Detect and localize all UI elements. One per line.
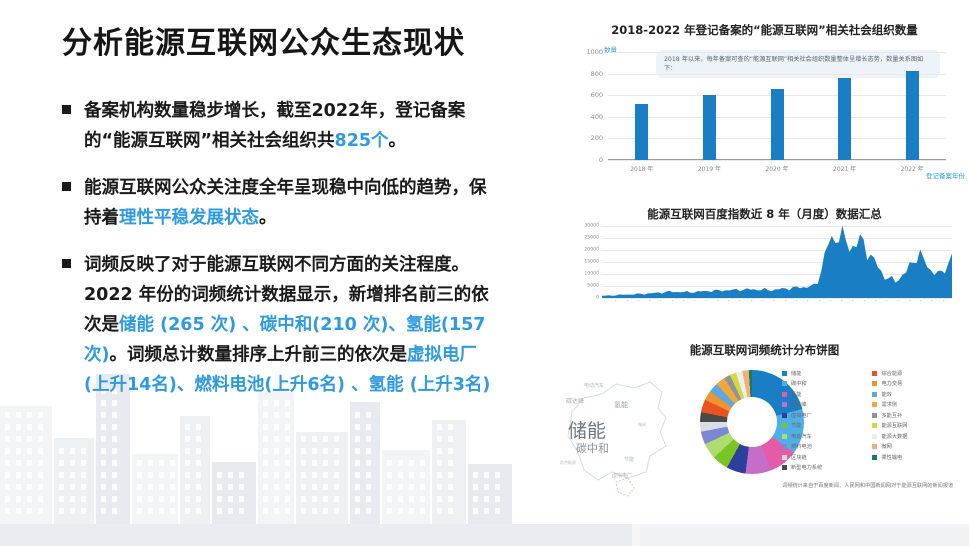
window-dot xyxy=(16,448,21,454)
window-dot xyxy=(285,448,290,454)
window-dot xyxy=(366,448,371,454)
window-dot xyxy=(148,508,153,514)
window-dot xyxy=(70,460,75,466)
window-dot xyxy=(285,484,290,490)
x-axis-tick: 2019-04 xyxy=(794,300,804,302)
window-dot xyxy=(185,460,190,466)
window-dot xyxy=(5,484,10,490)
area-chart-xticks: 2015-012015-042015-072015-102016-012016-… xyxy=(602,300,952,328)
y-axis-tick: 20000 xyxy=(584,248,599,253)
gridline xyxy=(608,160,946,161)
list-item: 能源互联网公众关注度全年呈现稳中向低的趋势，保持着理性平稳发展状态。 xyxy=(62,173,492,233)
legend-swatch xyxy=(782,455,787,460)
window-dot xyxy=(228,508,233,514)
window-dot xyxy=(59,508,64,514)
window-dot xyxy=(101,496,106,502)
window-dot xyxy=(70,496,75,502)
window-dot xyxy=(285,424,290,430)
window-dot xyxy=(437,448,442,454)
legend-item[interactable]: 需求侧 xyxy=(872,400,958,411)
legend-item[interactable]: 能效 xyxy=(872,389,958,400)
legend-swatch xyxy=(782,434,787,439)
gridline xyxy=(608,74,946,75)
window-dot xyxy=(301,508,306,514)
window-dot xyxy=(409,472,414,478)
window-dot xyxy=(196,508,201,514)
window-dot xyxy=(263,472,268,478)
window-dot xyxy=(148,484,153,490)
window-dot xyxy=(420,460,425,466)
window-dot xyxy=(409,460,414,466)
x-axis-tick: 2018-10 xyxy=(771,300,781,302)
y-axis-tick: 5000 xyxy=(587,284,599,289)
window-dot xyxy=(301,448,306,454)
bar xyxy=(771,89,784,160)
window-dot xyxy=(323,472,328,478)
window-dot xyxy=(27,448,32,454)
x-axis-tick: 2016-07 xyxy=(670,300,680,302)
x-axis-tick: 2020-07 xyxy=(850,300,860,302)
window-dot xyxy=(312,472,317,478)
wordcloud-word: 综合能源 xyxy=(560,460,576,466)
window-dot xyxy=(366,460,371,466)
x-axis-tick: 2018-04 xyxy=(749,300,759,302)
x-axis-tick: 2017-04 xyxy=(704,300,714,302)
window-dot xyxy=(448,496,453,502)
window-dot xyxy=(409,508,414,514)
window-dot xyxy=(285,496,290,502)
legend-swatch xyxy=(782,444,787,449)
window-dot xyxy=(81,484,86,490)
legend-item[interactable]: 虚拟电厂 xyxy=(782,410,868,421)
bar-chart-xlabel: 登记备案年份 xyxy=(926,170,965,180)
bar xyxy=(838,78,851,160)
window-dot xyxy=(81,472,86,478)
window-dot xyxy=(495,508,500,514)
window-dot xyxy=(448,508,453,514)
legend-label: 微网 xyxy=(881,443,891,450)
window-dot xyxy=(239,472,244,478)
legend-swatch xyxy=(782,423,787,428)
x-axis-tick: 2015-10 xyxy=(636,300,646,302)
window-dot xyxy=(323,484,328,490)
window-dot xyxy=(38,412,43,418)
window-dot xyxy=(448,448,453,454)
window-dot xyxy=(217,508,222,514)
legend-label: 碳达峰 xyxy=(791,401,807,408)
legend-swatch xyxy=(782,402,787,407)
legend-label: 电力交易 xyxy=(881,380,902,387)
y-axis-tick: 25000 xyxy=(584,236,599,241)
x-axis-tick: 2017-01 xyxy=(692,300,702,302)
legend-item[interactable]: 氢能 xyxy=(782,389,868,400)
window-dot xyxy=(59,448,64,454)
area-chart-title: 能源互联网百度指数近 8 年（月度）数据汇总 xyxy=(560,206,969,222)
window-dot xyxy=(112,460,117,466)
legend-item[interactable]: 电力交易 xyxy=(872,379,958,390)
window-dot xyxy=(112,472,117,478)
legend-item[interactable]: 多能互补 xyxy=(872,410,958,421)
window-dot xyxy=(16,412,21,418)
legend-label: 新型电力系统 xyxy=(791,464,822,471)
pie-chart: 能源互联网词频统计分布饼图 储能碳中和氢能碳达峰节能电动汽车虚拟电厂综合能源微网… xyxy=(560,342,969,522)
window-dot xyxy=(16,460,21,466)
window-dot xyxy=(366,508,371,514)
window-dot xyxy=(366,484,371,490)
x-axis-tick: 2019-10 xyxy=(817,300,827,302)
window-dot xyxy=(387,496,392,502)
window-dot xyxy=(101,472,106,478)
x-axis-tick: 2020-04 xyxy=(839,300,849,302)
window-dot xyxy=(398,496,403,502)
window-dot xyxy=(484,508,489,514)
window-dot xyxy=(437,472,442,478)
window-dot xyxy=(334,508,339,514)
x-axis-tick: 2022-07 xyxy=(941,300,951,302)
window-dot xyxy=(170,508,175,514)
legend-item[interactable]: 节能 xyxy=(782,421,868,432)
window-dot xyxy=(27,436,32,442)
window-dot xyxy=(484,496,489,502)
window-dot xyxy=(5,448,10,454)
window-dot xyxy=(312,484,317,490)
legend-swatch xyxy=(872,381,877,386)
y-axis-tick: 200 xyxy=(591,134,603,142)
window-dot xyxy=(448,436,453,442)
window-dot xyxy=(148,496,153,502)
window-dot xyxy=(196,436,201,442)
legend-item[interactable]: 柔性输电 xyxy=(872,452,958,463)
window-dot xyxy=(59,472,64,478)
window-dot xyxy=(437,460,442,466)
window-dot xyxy=(473,472,478,478)
legend-item[interactable]: 碳中和 xyxy=(782,379,868,390)
window-dot xyxy=(185,508,190,514)
window-dot xyxy=(355,448,360,454)
legend-item[interactable]: 储能 xyxy=(782,368,868,379)
china-map-wordcloud: 储能碳中和氢能碳达峰节能电动汽车虚拟电厂综合能源微网 xyxy=(554,360,684,500)
window-dot xyxy=(16,436,21,442)
x-axis-tick: 2015-04 xyxy=(613,300,623,302)
window-dot xyxy=(274,424,279,430)
window-dot xyxy=(495,472,500,478)
text-run: 。 xyxy=(389,131,407,151)
legend-item[interactable]: 新型电力系统 xyxy=(782,463,868,474)
window-dot xyxy=(159,496,164,502)
window-dot xyxy=(5,472,10,478)
window-dot xyxy=(366,436,371,442)
legend-swatch xyxy=(872,371,877,376)
wordcloud-word: 碳中和 xyxy=(576,440,609,456)
legend-item[interactable]: 燃料电池 xyxy=(782,442,868,453)
window-dot xyxy=(355,424,360,430)
legend-label: 能源互联网 xyxy=(881,422,907,429)
window-dot xyxy=(196,460,201,466)
window-dot xyxy=(448,460,453,466)
bullet-square-icon xyxy=(62,105,71,114)
wordcloud: 储能碳中和氢能碳达峰节能电动汽车虚拟电厂综合能源微网 xyxy=(554,360,684,500)
window-dot xyxy=(355,436,360,442)
legend-swatch xyxy=(872,455,877,460)
window-dot xyxy=(263,460,268,466)
legend-item[interactable]: 能源互联网 xyxy=(872,421,958,432)
wordcloud-word: 氢能 xyxy=(614,400,628,410)
window-dot xyxy=(137,508,142,514)
charts-panel: 2018-2022 年登记备案的“能源互联网”相关社会组织数量 2018 年以来… xyxy=(560,0,969,524)
window-dot xyxy=(38,508,43,514)
window-dot xyxy=(274,460,279,466)
text-run: 。词频总计数量排序上升前三的依次是 xyxy=(110,345,408,365)
window-dot xyxy=(274,436,279,442)
bar xyxy=(703,95,716,160)
x-axis-tick: 2020-10 xyxy=(862,300,872,302)
bullet-square-icon xyxy=(62,182,71,191)
window-dot xyxy=(185,484,190,490)
window-dot xyxy=(420,508,425,514)
legend-label: 氢能 xyxy=(791,391,801,398)
window-dot xyxy=(312,436,317,442)
window-dot xyxy=(81,460,86,466)
area-chart: 能源互联网百度指数近 8 年（月度）数据汇总 05000100001500020… xyxy=(560,206,969,336)
window-dot xyxy=(81,448,86,454)
window-dot xyxy=(366,424,371,430)
legend-swatch xyxy=(872,434,877,439)
x-axis-tick: 2018-01 xyxy=(737,300,747,302)
window-dot xyxy=(285,508,290,514)
window-dot xyxy=(27,424,32,430)
window-dot xyxy=(495,484,500,490)
legend-item[interactable]: 区块链 xyxy=(782,452,868,463)
bar-chart-plot: 020040060080010002018 年2019 年2020 年2021 … xyxy=(608,52,946,160)
pie-legend-column-right: 综合能源电力交易能效需求侧多能互补能源互联网能源大数据微网柔性输电 xyxy=(872,368,958,463)
window-dot xyxy=(27,412,32,418)
window-dot xyxy=(274,448,279,454)
window-dot xyxy=(355,508,360,514)
window-dot xyxy=(70,484,75,490)
window-dot xyxy=(334,448,339,454)
window-dot xyxy=(16,508,21,514)
window-dot xyxy=(185,496,190,502)
window-dot xyxy=(5,460,10,466)
wordcloud-word: 节能 xyxy=(624,456,634,463)
highlight-run: 理性平稳发展状态 xyxy=(119,208,259,228)
x-axis-tick: 2018 年 xyxy=(630,164,653,173)
window-dot xyxy=(274,484,279,490)
window-dot xyxy=(334,460,339,466)
window-dot xyxy=(170,472,175,478)
window-dot xyxy=(448,472,453,478)
window-dot xyxy=(366,496,371,502)
legend-item[interactable]: 综合能源 xyxy=(872,368,958,379)
window-dot xyxy=(137,460,142,466)
window-dot xyxy=(398,472,403,478)
window-dot xyxy=(301,460,306,466)
y-axis-tick: 400 xyxy=(591,113,603,121)
pie-legend-column-left: 储能碳中和氢能碳达峰虚拟电厂节能电动汽车燃料电池区块链新型电力系统 xyxy=(782,368,868,473)
window-dot xyxy=(420,472,425,478)
window-dot xyxy=(59,496,64,502)
window-dot xyxy=(409,496,414,502)
window-dot xyxy=(27,484,32,490)
legend-item[interactable]: 电动汽车 xyxy=(782,431,868,442)
window-dot xyxy=(420,484,425,490)
window-dot xyxy=(196,472,201,478)
window-dot xyxy=(473,484,478,490)
window-dot xyxy=(387,508,392,514)
window-dot xyxy=(170,460,175,466)
window-dot xyxy=(274,496,279,502)
window-dot xyxy=(196,484,201,490)
highlight-run: 825个 xyxy=(335,131,389,151)
bullet-square-icon xyxy=(62,259,71,268)
bar xyxy=(906,71,919,160)
legend-swatch xyxy=(782,381,787,386)
window-dot xyxy=(263,436,268,442)
window-dot xyxy=(228,484,233,490)
window-dot xyxy=(323,460,328,466)
window-dot xyxy=(137,496,142,502)
legend-item[interactable]: 微网 xyxy=(872,442,958,453)
window-dot xyxy=(323,508,328,514)
legend-swatch xyxy=(782,371,787,376)
y-axis-tick: 0 xyxy=(596,296,599,301)
x-axis-tick: 2017-10 xyxy=(726,300,736,302)
window-dot xyxy=(196,448,201,454)
window-dot xyxy=(387,460,392,466)
legend-label: 电动汽车 xyxy=(791,433,812,440)
y-axis-tick: 15000 xyxy=(584,260,599,265)
window-dot xyxy=(38,484,43,490)
legend-swatch xyxy=(872,444,877,449)
window-dot xyxy=(159,460,164,466)
legend-swatch xyxy=(872,413,877,418)
list-item: 备案机构数量稳步增长，截至2022年，登记备案的“能源互联网”相关社会组织共82… xyxy=(62,96,492,156)
window-dot xyxy=(387,484,392,490)
window-dot xyxy=(27,496,32,502)
window-dot xyxy=(301,436,306,442)
window-dot xyxy=(5,496,10,502)
legend-label: 虚拟电厂 xyxy=(791,412,812,419)
window-dot xyxy=(16,484,21,490)
window-dot xyxy=(484,484,489,490)
window-dot xyxy=(112,508,117,514)
legend-label: 能效 xyxy=(881,391,891,398)
wordcloud-word: 储能 xyxy=(568,416,606,443)
window-dot xyxy=(137,484,142,490)
x-axis-tick: 2016-10 xyxy=(681,300,691,302)
window-dot xyxy=(366,472,371,478)
window-dot xyxy=(334,436,339,442)
window-dot xyxy=(112,436,117,442)
window-dot xyxy=(437,436,442,442)
window-dot xyxy=(196,424,201,430)
page-title: 分析能源互联网公众生态现状 xyxy=(62,18,465,62)
window-dot xyxy=(301,484,306,490)
window-dot xyxy=(101,436,106,442)
window-dot xyxy=(285,460,290,466)
window-dot xyxy=(101,508,106,514)
window-dot xyxy=(38,448,43,454)
bullet-text-1: 备案机构数量稳步增长，截至2022年，登记备案的“能源互联网”相关社会组织共82… xyxy=(84,96,492,156)
bar-chart-title: 2018-2022 年登记备案的“能源互联网”相关社会组织数量 xyxy=(560,22,969,38)
window-dot xyxy=(217,484,222,490)
window-dot xyxy=(448,424,453,430)
legend-item[interactable]: 碳达峰 xyxy=(782,400,868,411)
window-dot xyxy=(38,460,43,466)
window-dot xyxy=(420,496,425,502)
bar-chart: 2018-2022 年登记备案的“能源互联网”相关社会组织数量 2018 年以来… xyxy=(560,22,969,194)
legend-label: 多能互补 xyxy=(881,412,902,419)
legend-swatch xyxy=(782,413,787,418)
window-dot xyxy=(148,460,153,466)
window-dot xyxy=(398,508,403,514)
window-dot xyxy=(185,424,190,430)
y-axis-tick: 30000 xyxy=(584,224,599,229)
legend-label: 区块链 xyxy=(791,454,807,461)
window-dot xyxy=(185,436,190,442)
window-dot xyxy=(484,472,489,478)
area-series xyxy=(602,226,952,298)
x-axis-tick: 2021-10 xyxy=(907,300,917,302)
window-dot xyxy=(437,484,442,490)
window-dot xyxy=(239,496,244,502)
window-dot xyxy=(112,424,117,430)
x-axis-tick: 2022-04 xyxy=(929,300,939,302)
area-chart-plot: 050001000015000200002500030000 xyxy=(602,226,952,298)
y-axis-tick: 10000 xyxy=(584,272,599,277)
window-dot xyxy=(81,508,86,514)
pie-chart-note: 词频统计来自于百度新闻、人民网和中国新闻网对于能源互联网的新闻报道 xyxy=(782,482,962,490)
x-axis-tick: 2019-07 xyxy=(805,300,815,302)
wordcloud-word: 微网 xyxy=(638,422,646,428)
window-dot xyxy=(274,508,279,514)
window-dot xyxy=(5,436,10,442)
legend-label: 需求侧 xyxy=(881,401,897,408)
donut-hole xyxy=(727,397,777,447)
x-axis-tick: 2016-01 xyxy=(647,300,657,302)
window-dot xyxy=(70,448,75,454)
window-dot xyxy=(437,508,442,514)
legend-label: 综合能源 xyxy=(881,370,902,377)
legend-item[interactable]: 能源大数据 xyxy=(872,431,958,442)
window-dot xyxy=(170,484,175,490)
window-dot xyxy=(398,484,403,490)
x-axis-tick: 2020-01 xyxy=(828,300,838,302)
legend-label: 碳中和 xyxy=(791,380,807,387)
window-dot xyxy=(387,472,392,478)
window-dot xyxy=(334,472,339,478)
window-dot xyxy=(355,472,360,478)
footer-bar xyxy=(0,524,969,546)
window-dot xyxy=(70,508,75,514)
window-dot xyxy=(263,448,268,454)
window-dot xyxy=(5,412,10,418)
window-dot xyxy=(495,496,500,502)
window-dot xyxy=(312,508,317,514)
window-dot xyxy=(38,436,43,442)
window-dot xyxy=(473,508,478,514)
list-item: 词频反映了对于能源互联网不同方面的关注程度。2022 年份的词频统计数据显示，新… xyxy=(62,250,492,400)
window-dot xyxy=(159,484,164,490)
window-dot xyxy=(159,472,164,478)
window-dot xyxy=(239,508,244,514)
window-dot xyxy=(101,484,106,490)
bullet-text-2: 能源互联网公众关注度全年呈现稳中向低的趋势，保持着理性平稳发展状态。 xyxy=(84,173,492,233)
y-axis-tick: 600 xyxy=(591,91,603,99)
window-dot xyxy=(448,484,453,490)
legend-label: 柔性输电 xyxy=(881,454,902,461)
gridline xyxy=(608,52,946,53)
